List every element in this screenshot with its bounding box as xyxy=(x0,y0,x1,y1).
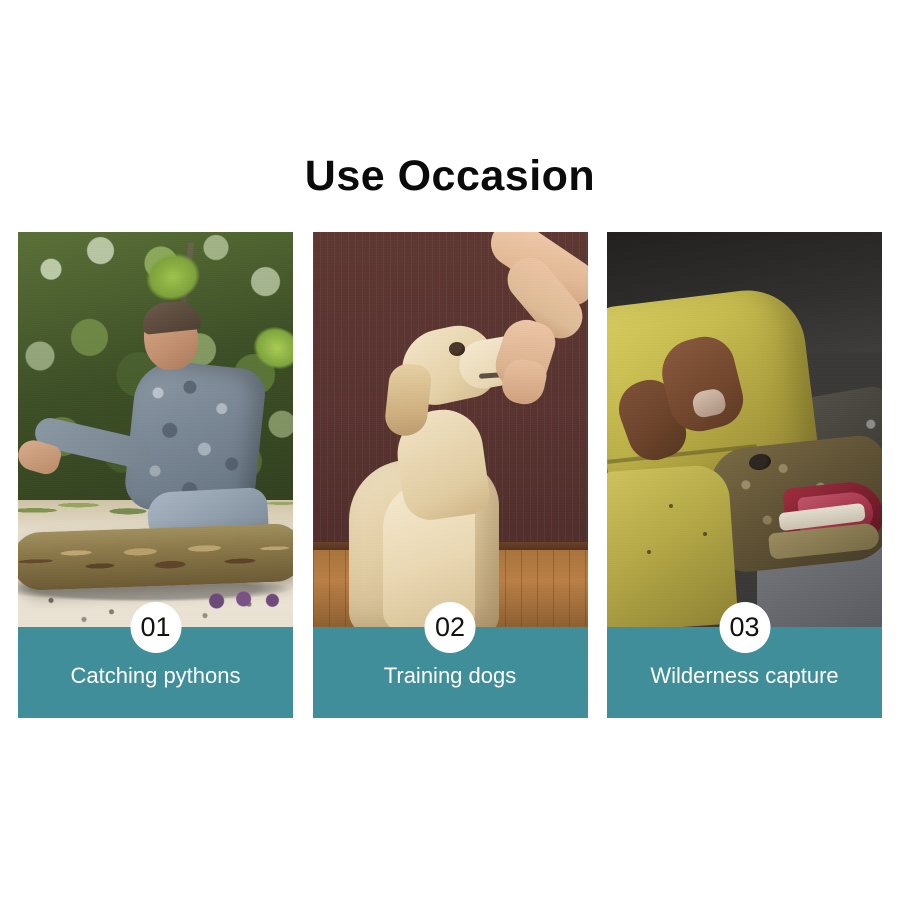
dog-eye-shape xyxy=(449,342,465,356)
step-badge-3: 03 xyxy=(719,602,770,653)
purple-pebbles xyxy=(204,584,293,618)
infographic-page: Use Occasion xyxy=(0,0,900,900)
glove-stitch-dot xyxy=(703,532,707,536)
photo-wilderness-capture xyxy=(607,232,882,627)
photo-catching-pythons xyxy=(18,232,293,627)
glove-stitch-dot xyxy=(669,504,673,508)
step-number: 01 xyxy=(130,602,181,653)
caption-label: Wilderness capture xyxy=(607,663,882,689)
use-case-panel-2[interactable]: 02 Training dogs xyxy=(313,232,588,718)
step-number: 02 xyxy=(425,602,476,653)
step-badge-2: 02 xyxy=(425,602,476,653)
step-badge-1: 01 xyxy=(130,602,181,653)
glove-stitch-dot xyxy=(647,550,651,554)
caption-label: Training dogs xyxy=(313,663,588,689)
page-title: Use Occasion xyxy=(0,151,900,201)
step-number: 03 xyxy=(719,602,770,653)
photo-training-dogs xyxy=(313,232,588,627)
use-case-panel-3[interactable]: 03 Wilderness capture xyxy=(607,232,882,718)
caption-label: Catching pythons xyxy=(18,663,293,689)
use-occasion-panel-row: 01 Catching pythons xyxy=(18,232,882,718)
use-case-panel-1[interactable]: 01 Catching pythons xyxy=(18,232,293,718)
